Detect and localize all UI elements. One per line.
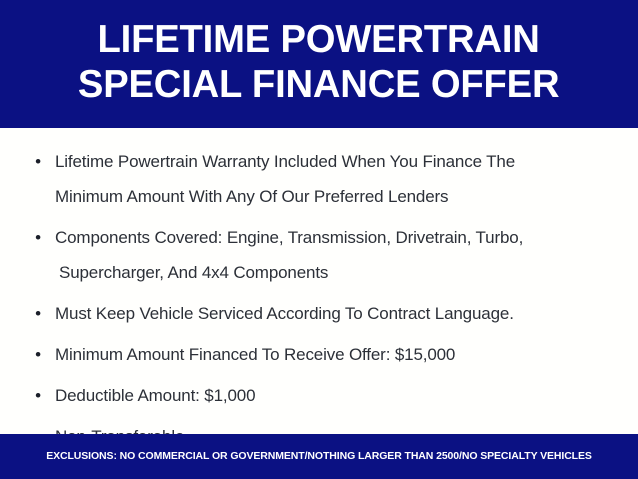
offer-slide: LIFETIME POWERTRAIN SPECIAL FINANCE OFFE… <box>0 0 638 479</box>
bullet-point-icon: • <box>33 419 43 434</box>
bullet-point-icon: • <box>33 220 43 255</box>
list-item: • Components Covered: Engine, Transmissi… <box>14 220 624 290</box>
page-title-line-2: SPECIAL FINANCE OFFER <box>78 62 559 107</box>
list-item-line-2: Minimum Amount With Any Of Our Preferred… <box>55 179 624 214</box>
bullet-point-icon: • <box>33 144 43 179</box>
header-banner: LIFETIME POWERTRAIN SPECIAL FINANCE OFFE… <box>0 0 638 128</box>
list-item-line-2: Supercharger, And 4x4 Components <box>55 255 624 290</box>
bullet-point-icon: • <box>33 296 43 331</box>
list-item-line-1: Deductible Amount: $1,000 <box>55 386 255 405</box>
footer-banner: EXCLUSIONS: NO COMMERCIAL OR GOVERNMENT/… <box>0 434 638 479</box>
list-item: • Must Keep Vehicle Serviced According T… <box>14 296 624 331</box>
list-item-line-1: Must Keep Vehicle Serviced According To … <box>55 304 514 323</box>
bullet-point-icon: • <box>33 337 43 372</box>
list-item-line-1: Components Covered: Engine, Transmission… <box>55 228 523 247</box>
list-item: • Deductible Amount: $1,000 <box>14 378 624 413</box>
exclusions-disclaimer: EXCLUSIONS: NO COMMERCIAL OR GOVERNMENT/… <box>46 450 592 463</box>
offer-details-body: • Lifetime Powertrain Warranty Included … <box>0 128 638 434</box>
page-title-line-1: LIFETIME POWERTRAIN <box>98 17 540 62</box>
list-item: • Minimum Amount Financed To Receive Off… <box>14 337 624 372</box>
bullet-point-icon: • <box>33 378 43 413</box>
list-item: • Lifetime Powertrain Warranty Included … <box>14 144 624 214</box>
offer-bullet-list: • Lifetime Powertrain Warranty Included … <box>14 144 624 434</box>
list-item: • Non-Transferable <box>14 419 624 434</box>
list-item-line-1: Non-Transferable <box>55 427 184 434</box>
list-item-line-1: Lifetime Powertrain Warranty Included Wh… <box>55 152 515 171</box>
list-item-line-1: Minimum Amount Financed To Receive Offer… <box>55 345 455 364</box>
